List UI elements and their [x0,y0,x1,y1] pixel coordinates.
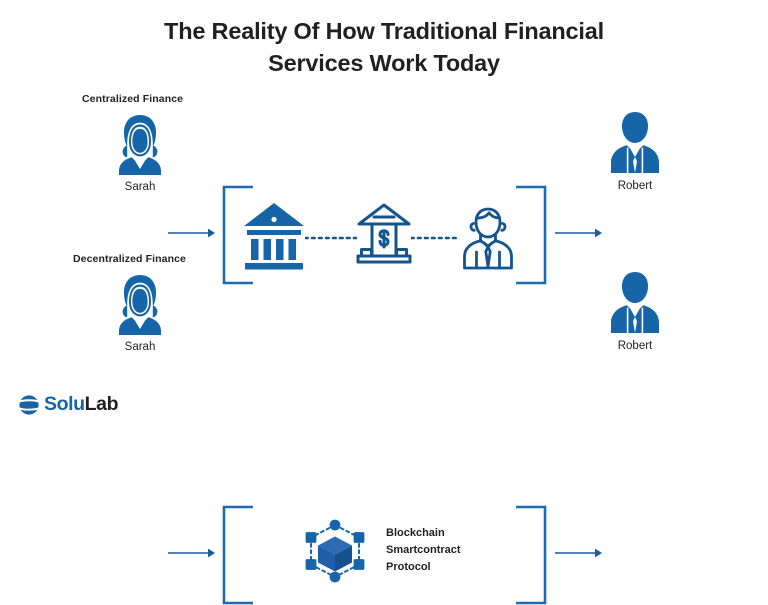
logo-text-primary: Solu [44,393,85,415]
male-avatar-icon [608,110,662,174]
sender-name-label: Sarah [95,182,185,194]
arrow-sender-to-system-defi [168,546,216,560]
sender-sarah-cefi: Sarah [95,113,185,194]
receiver-name-label: Robert [590,341,680,353]
male-avatar-icon [608,270,662,334]
blockchain-text-line-3: Protocol [386,559,461,576]
bracket-left-defi [222,505,254,605]
receiver-robert-defi: Robert [590,270,680,353]
solulab-circle-mark-icon [18,394,40,416]
arrow-system-to-receiver-defi [555,546,603,560]
page-title-line-1: The Reality Of How Traditional Financial [0,16,768,48]
centralized-finance-row: Centralized Finance Sarah [0,88,768,208]
receiver-name-label: Robert [590,181,680,193]
arrow-system-to-receiver-cefi [555,226,603,240]
dotted-connector-bank-to-dollarbank [305,236,357,240]
female-avatar-icon [113,113,167,175]
receiver-robert-cefi: Robert [590,110,680,193]
solulab-wordmark: SoluLab [44,395,118,415]
sender-name-label: Sarah [95,342,185,354]
centralized-finance-label: Centralized Finance [82,93,183,105]
solulab-logo[interactable]: SoluLab [18,394,118,416]
blockchain-protocol-text: Blockchain Smartcontract Protocol [386,525,461,576]
logo-text-secondary: Lab [85,393,118,415]
decentralized-finance-row: Decentralized Finance Sarah [0,248,768,368]
decentralized-finance-label: Decentralized Finance [73,253,186,265]
page-title: The Reality Of How Traditional Financial… [0,16,768,79]
female-avatar-icon [113,273,167,335]
sender-sarah-defi: Sarah [95,273,185,354]
page-title-line-2: Services Work Today [0,48,768,80]
bracket-right-defi [515,505,547,605]
blockchain-text-line-2: Smartcontract [386,542,461,559]
arrow-sender-to-system-cefi [168,226,216,240]
blockchain-text-line-1: Blockchain [386,525,461,542]
blockchain-network-icon [300,516,370,586]
dotted-connector-dollarbank-to-banker [411,236,459,240]
